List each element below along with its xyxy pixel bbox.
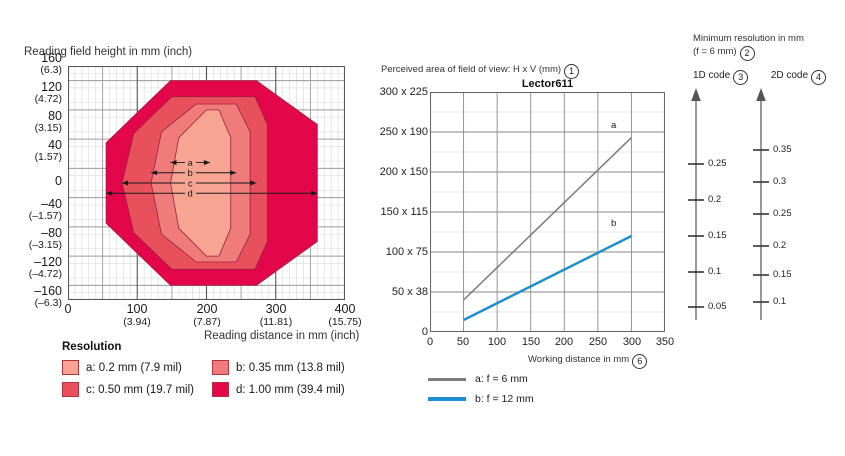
fov-legend-label-b: b: f = 12 mm [475, 393, 534, 405]
fov-legend-label-a: a: f = 6 mm [475, 373, 528, 385]
series-line-b [464, 236, 632, 320]
ref-number-4: 4 [811, 70, 826, 85]
tick-2d-0: 0.35 [773, 144, 792, 155]
middle-caption-text: Perceived area of field of view: H x V (… [381, 64, 561, 75]
ref-number-1: 1 [564, 64, 579, 79]
series-label-a: a [611, 120, 617, 131]
y-tick-neg120: –120(–4.72) [0, 256, 62, 280]
legend-swatch-b [212, 360, 229, 375]
fov-legend-item-a: a: f = 6 mm [428, 373, 534, 385]
mid-y-tick-150: 150 x 115 [366, 206, 428, 218]
ref-number-2: 2 [740, 46, 755, 61]
reading-field-chart: a b c d [68, 66, 345, 300]
mid-x-tick-350: 350 [645, 336, 685, 348]
legend-row-1: a: 0.2 mm (7.9 mil) b: 0.35 mm (13.8 mil… [62, 360, 362, 375]
mid-y-tick-50: 50 x 38 [366, 286, 428, 298]
mid-y-tick-300: 300 x 225 [366, 86, 428, 98]
tick-2d-3: 0.2 [773, 240, 786, 251]
tick-1d-1: 0.2 [708, 194, 721, 205]
resolution-axis-2d [751, 88, 771, 320]
middle-chart-caption: Perceived area of field of view: H x V (… [381, 64, 579, 79]
tick-1d-4: 0.05 [708, 301, 727, 312]
y-tick-160: 160(6.3) [0, 52, 62, 76]
tick-1d-3: 0.1 [708, 266, 721, 277]
y-tick-120: 120(4.72) [0, 81, 62, 105]
legend-swatch-d [212, 382, 229, 397]
legend-item-d: d: 1.00 mm (39.4 mil) [212, 382, 362, 397]
mid-y-tick-200: 200 x 150 [366, 166, 428, 178]
legend-row-2: c: 0.50 mm (19.7 mil) d: 1.00 mm (39.4 m… [62, 382, 362, 397]
y-tick-neg40: –40(–1.57) [0, 198, 62, 222]
legend-swatch-c [62, 382, 79, 397]
fov-legend-line-a [428, 378, 466, 381]
tick-2d-1: 0.3 [773, 176, 786, 187]
span-label-d: d [188, 189, 193, 200]
x-tick-0: 0 [33, 303, 103, 317]
series-label-b: b [611, 218, 616, 229]
x-tick-300: 300(11.81) [241, 303, 311, 328]
fov-legend-item-b: b: f = 12 mm [428, 393, 534, 405]
mid-y-tick-100: 100 x 75 [366, 246, 428, 258]
reading-field-plot: a b c d [68, 66, 345, 300]
field-of-view-chart: a b [430, 92, 665, 332]
legend-label-d: d: 1.00 mm (39.4 mil) [236, 384, 345, 396]
minimum-resolution-block: Minimum resolution in mm (f = 6 mm)2 1D … [693, 33, 845, 85]
middle-x-axis-title-text: Working distance in mm [528, 354, 629, 365]
field-of-view-plot: a b [430, 92, 665, 332]
ref-number-3: 3 [733, 70, 748, 85]
resolution-legend: Resolution a: 0.2 mm (7.9 mil) b: 0.35 m… [62, 341, 362, 404]
resolution-legend-title: Resolution [62, 341, 362, 353]
middle-chart-title: Lector611 [430, 78, 665, 90]
column-header-2d: 2D code [771, 70, 808, 81]
y-tick-80: 80(3.15) [0, 110, 62, 134]
resolution-column-headers: 1D code3 2D code4 [693, 70, 845, 85]
legend-label-a: a: 0.2 mm (7.9 mil) [86, 362, 182, 374]
minimum-resolution-heading: Minimum resolution in mm (f = 6 mm)2 [693, 33, 845, 61]
column-header-1d: 1D code [693, 70, 730, 81]
x-tick-400: 400(15.75) [310, 303, 380, 328]
mid-y-tick-250: 250 x 190 [366, 126, 428, 138]
legend-item-c: c: 0.50 mm (19.7 mil) [62, 382, 212, 397]
tick-2d-4: 0.15 [773, 269, 792, 280]
legend-swatch-a [62, 360, 79, 375]
x-tick-100: 100(3.94) [102, 303, 172, 328]
field-of-view-legend: a: f = 6 mm b: f = 12 mm [428, 373, 534, 413]
legend-label-c: c: 0.50 mm (19.7 mil) [86, 384, 194, 396]
legend-label-b: b: 0.35 mm (13.8 mil) [236, 362, 345, 374]
series-line-a [464, 138, 632, 300]
legend-item-b: b: 0.35 mm (13.8 mil) [212, 360, 362, 375]
minimum-resolution-heading-line1: Minimum resolution in mm [693, 33, 845, 46]
fov-legend-line-b [428, 397, 466, 401]
x-tick-200: 200(7.87) [172, 303, 242, 328]
ref-number-6: 6 [632, 354, 647, 369]
legend-item-a: a: 0.2 mm (7.9 mil) [62, 360, 212, 375]
resolution-axis-1d [686, 88, 706, 320]
tick-1d-0: 0.25 [708, 158, 727, 169]
tick-1d-2: 0.15 [708, 230, 727, 241]
minimum-resolution-heading-line2: (f = 6 mm)2 [693, 46, 845, 61]
tick-2d-2: 0.25 [773, 208, 792, 219]
tick-2d-5: 0.1 [773, 296, 786, 307]
middle-chart-x-axis-title: Working distance in mm6 [528, 354, 647, 369]
y-tick-0: 0 [0, 175, 62, 188]
y-tick-40: 40(1.57) [0, 139, 62, 163]
y-tick-neg80: –80(–3.15) [0, 227, 62, 251]
